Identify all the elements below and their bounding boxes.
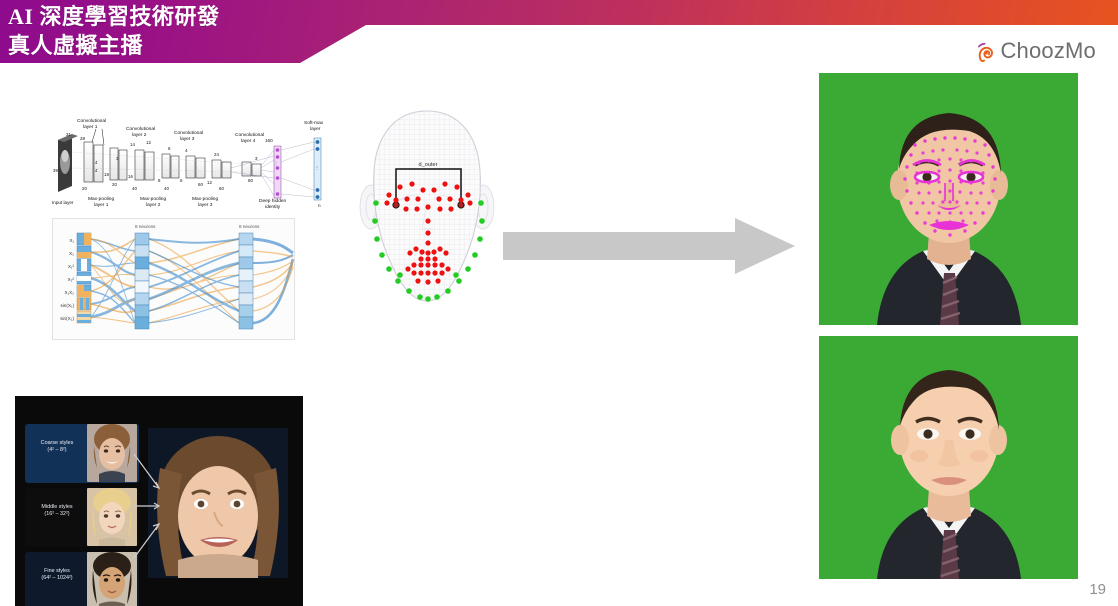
page-number: 19 [1089, 581, 1106, 598]
stylegan-row-coarse: Coarse styles (4² – 8²) [25, 424, 139, 483]
hidden-layer-2-label: 8 neurons [239, 224, 260, 229]
svg-text:3: 3 [116, 156, 119, 161]
svg-text:60: 60 [219, 186, 224, 191]
svg-text:6: 6 [180, 178, 183, 183]
svg-text:Convolutional: Convolutional [174, 130, 203, 136]
coarse-styles-label: Coarse styles (4² – 8²) [26, 440, 88, 454]
svg-text:Max-pooling: Max-pooling [140, 196, 166, 202]
svg-text:X₁X₂: X₁X₂ [65, 290, 75, 295]
svg-text:Convolutional: Convolutional [235, 132, 264, 138]
svg-text:layer 2: layer 2 [132, 132, 147, 138]
svg-text:X₁: X₁ [69, 238, 74, 243]
svg-text:sin(X₁): sin(X₁) [60, 303, 74, 308]
svg-text:sin(X₂): sin(X₂) [60, 316, 74, 321]
svg-text:16: 16 [128, 174, 133, 179]
svg-text:40: 40 [164, 186, 169, 191]
page-title: AI 深度學習技術研發 真人虛擬主播 [8, 2, 219, 60]
svg-text:31: 31 [66, 132, 71, 137]
fine-styles-label: Fine styles (64² – 1024²) [26, 568, 88, 582]
svg-text:Convolutional: Convolutional [77, 118, 106, 124]
hidden-layer-1-label: 8 neurons [135, 224, 156, 229]
stylegan-result-face [148, 428, 288, 578]
svg-text:28: 28 [80, 136, 85, 141]
brand-logo: ChoozMo [973, 38, 1096, 64]
svg-text:⋮: ⋮ [314, 166, 319, 172]
svg-text:⋮: ⋮ [274, 161, 279, 167]
svg-text:layer 4: layer 4 [241, 138, 256, 144]
svg-text:Max-pooling: Max-pooling [192, 196, 218, 202]
svg-text:X₂²: X₂² [68, 277, 75, 282]
svg-text:60: 60 [198, 182, 203, 187]
svg-text:Max-pooling: Max-pooling [88, 196, 114, 202]
svg-text:24: 24 [214, 152, 219, 157]
photo-landmarked-anchor [819, 73, 1078, 325]
svg-text:3: 3 [255, 156, 258, 161]
svg-text:layer 2: layer 2 [146, 202, 161, 208]
svg-text:identity: identity [265, 204, 281, 210]
svg-text:160: 160 [265, 138, 273, 143]
svg-text:6: 6 [168, 146, 171, 151]
svg-text:14: 14 [130, 142, 135, 147]
fine-source-face [87, 552, 137, 606]
choozmo-spiral-icon [973, 40, 995, 62]
svg-text:80: 80 [248, 178, 253, 183]
process-arrow [503, 218, 795, 274]
svg-text:20: 20 [82, 186, 87, 191]
face-mesh-landmark-diagram: d_outer [330, 95, 525, 335]
svg-text:layer: layer [310, 126, 321, 132]
svg-text:8: 8 [158, 178, 161, 183]
svg-text:layer 3: layer 3 [180, 136, 195, 142]
svg-text:layer 1: layer 1 [94, 202, 109, 208]
svg-text:40: 40 [132, 186, 137, 191]
svg-text:39: 39 [53, 168, 58, 173]
svg-text:12: 12 [146, 140, 151, 145]
stylegan-row-fine: Fine styles (64² – 1024²) [25, 552, 139, 606]
stylegan-row-middle: Middle styles (16² – 32²) [25, 488, 139, 547]
svg-text:layer 1: layer 1 [83, 124, 98, 130]
svg-text:X₁²: X₁² [68, 264, 75, 269]
svg-text:12: 12 [207, 180, 212, 185]
svg-text:n: n [318, 203, 321, 208]
bracket-label: d_outer [419, 162, 438, 168]
svg-text:4: 4 [185, 148, 188, 153]
middle-source-face [87, 488, 137, 546]
svg-text:Convolutional: Convolutional [126, 126, 155, 132]
brand-name: ChoozMo [1000, 38, 1096, 64]
neural-network-diagram: 8 neurons 8 neurons [52, 218, 295, 340]
svg-text:Input layer: Input layer [52, 200, 74, 205]
middle-styles-label: Middle styles (16² – 32²) [26, 504, 88, 518]
svg-text:20: 20 [112, 182, 117, 187]
svg-text:18: 18 [104, 172, 109, 177]
photo-virtual-anchor-output [819, 336, 1078, 579]
coarse-source-face [87, 424, 137, 482]
cnn-architecture-diagram: Input layer 31 39 28 20 4 4 Convolutiona… [52, 112, 342, 210]
svg-text:layer 3: layer 3 [198, 202, 213, 208]
svg-text:Soft-max: Soft-max [304, 120, 324, 126]
stylegan-style-mixing-figure: Coarse styles (4² – 8²) Middle styles (1… [15, 396, 303, 606]
svg-text:X₂: X₂ [69, 251, 74, 256]
svg-text:Deep hidden: Deep hidden [259, 198, 287, 204]
